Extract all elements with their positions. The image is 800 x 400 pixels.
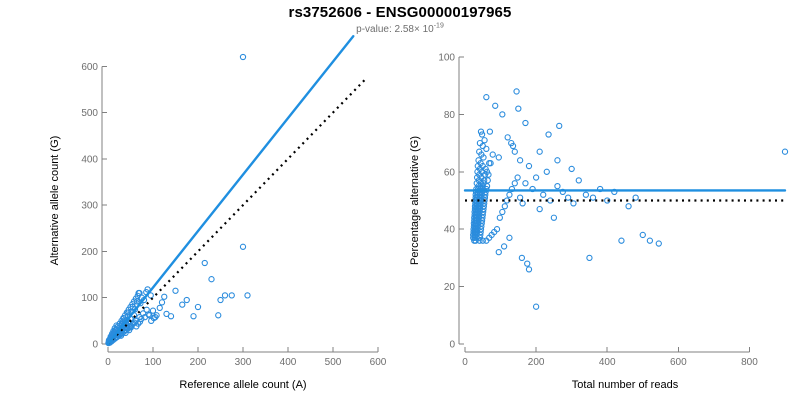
data-point	[507, 235, 512, 240]
data-point	[245, 293, 250, 298]
data-point	[184, 297, 189, 302]
y-tick-label: 100	[438, 53, 455, 64]
data-point	[490, 152, 495, 157]
data-point	[195, 304, 200, 309]
data-point	[216, 313, 221, 318]
data-points-group	[471, 89, 788, 309]
x-tick-label: 200	[528, 357, 545, 368]
data-point	[523, 181, 528, 186]
data-point	[518, 158, 523, 163]
data-point	[209, 277, 214, 282]
y-tick-label: 0	[449, 340, 455, 351]
data-point	[619, 238, 624, 243]
data-point	[566, 195, 571, 200]
data-point	[512, 181, 517, 186]
data-point	[576, 178, 581, 183]
right-plot-svg: 0204060801000200400600800Total number of…	[400, 0, 800, 400]
data-point	[507, 192, 512, 197]
data-point	[218, 297, 223, 302]
data-point	[162, 294, 167, 299]
x-tick-label: 100	[145, 357, 162, 368]
data-point	[656, 241, 661, 246]
data-point	[482, 138, 487, 143]
data-point	[502, 244, 507, 249]
data-point	[537, 207, 542, 212]
y-tick-label: 500	[81, 108, 98, 119]
data-point	[512, 149, 517, 154]
data-point	[202, 260, 207, 265]
x-tick-label: 400	[599, 357, 616, 368]
y-tick-label: 80	[444, 110, 456, 121]
data-point	[500, 209, 505, 214]
data-point	[497, 215, 502, 220]
data-point	[514, 89, 519, 94]
y-tick-label: 600	[81, 62, 98, 73]
y-tick-label: 300	[81, 201, 98, 212]
data-point	[544, 169, 549, 174]
y-tick-label: 0	[92, 340, 98, 351]
x-tick-label: 0	[105, 357, 111, 368]
data-point	[526, 163, 531, 168]
x-tick-label: 200	[190, 357, 207, 368]
scatter-panel-right: 0204060801000200400600800Total number of…	[400, 0, 800, 400]
y-tick-label: 40	[444, 225, 456, 236]
scatter-panel-left: 01002003004005006000100200300400500600Re…	[0, 0, 400, 400]
data-point	[180, 302, 185, 307]
x-tick-label: 0	[462, 357, 468, 368]
data-point	[555, 158, 560, 163]
data-point	[519, 255, 524, 260]
data-point	[557, 123, 562, 128]
data-point	[500, 112, 505, 117]
y-tick-label: 60	[444, 167, 456, 178]
data-point	[487, 129, 492, 134]
data-point	[647, 238, 652, 243]
data-point	[534, 304, 539, 309]
data-point	[240, 54, 245, 59]
data-point	[523, 120, 528, 125]
data-point	[526, 267, 531, 272]
left-plot-svg: 01002003004005006000100200300400500600Re…	[0, 0, 400, 400]
x-axis-title: Total number of reads	[572, 379, 679, 391]
x-tick-label: 600	[370, 357, 387, 368]
data-point	[534, 175, 539, 180]
data-point	[493, 103, 498, 108]
data-point	[150, 308, 155, 313]
data-point	[505, 135, 510, 140]
data-point	[590, 195, 595, 200]
data-point	[782, 149, 787, 154]
data-point	[496, 250, 501, 255]
data-point	[640, 232, 645, 237]
y-tick-label: 20	[444, 282, 456, 293]
data-point	[157, 305, 162, 310]
reference-line	[108, 78, 367, 344]
data-point	[525, 261, 530, 266]
data-point	[516, 106, 521, 111]
y-axis-title: Percentage alternative (G)	[409, 136, 421, 265]
x-axis-title: Reference allele count (A)	[179, 379, 306, 391]
data-point	[173, 288, 178, 293]
y-tick-label: 200	[81, 247, 98, 258]
data-point	[555, 184, 560, 189]
x-tick-label: 400	[280, 357, 297, 368]
data-point	[502, 204, 507, 209]
data-point	[626, 204, 631, 209]
x-tick-label: 500	[325, 357, 342, 368]
data-point	[191, 314, 196, 319]
data-point	[537, 149, 542, 154]
data-point	[546, 132, 551, 137]
data-point	[159, 300, 164, 305]
data-point	[484, 146, 489, 151]
x-tick-label: 800	[741, 357, 758, 368]
data-point	[229, 293, 234, 298]
data-point	[541, 192, 546, 197]
data-point	[484, 95, 489, 100]
y-tick-label: 400	[81, 154, 98, 165]
data-point	[496, 155, 501, 160]
y-tick-label: 100	[81, 293, 98, 304]
data-point	[222, 293, 227, 298]
data-point	[583, 192, 588, 197]
figure-root: rs3752606 - ENSG00000197965 p-value: 2.5…	[0, 0, 800, 400]
data-points-group	[106, 54, 250, 345]
x-tick-label: 600	[670, 357, 687, 368]
data-point	[587, 255, 592, 260]
data-point	[569, 166, 574, 171]
data-point	[515, 175, 520, 180]
data-point	[168, 314, 173, 319]
data-point	[240, 244, 245, 249]
data-point	[551, 215, 556, 220]
x-tick-label: 300	[235, 357, 252, 368]
y-axis-title: Alternative allele count (G)	[49, 136, 61, 266]
